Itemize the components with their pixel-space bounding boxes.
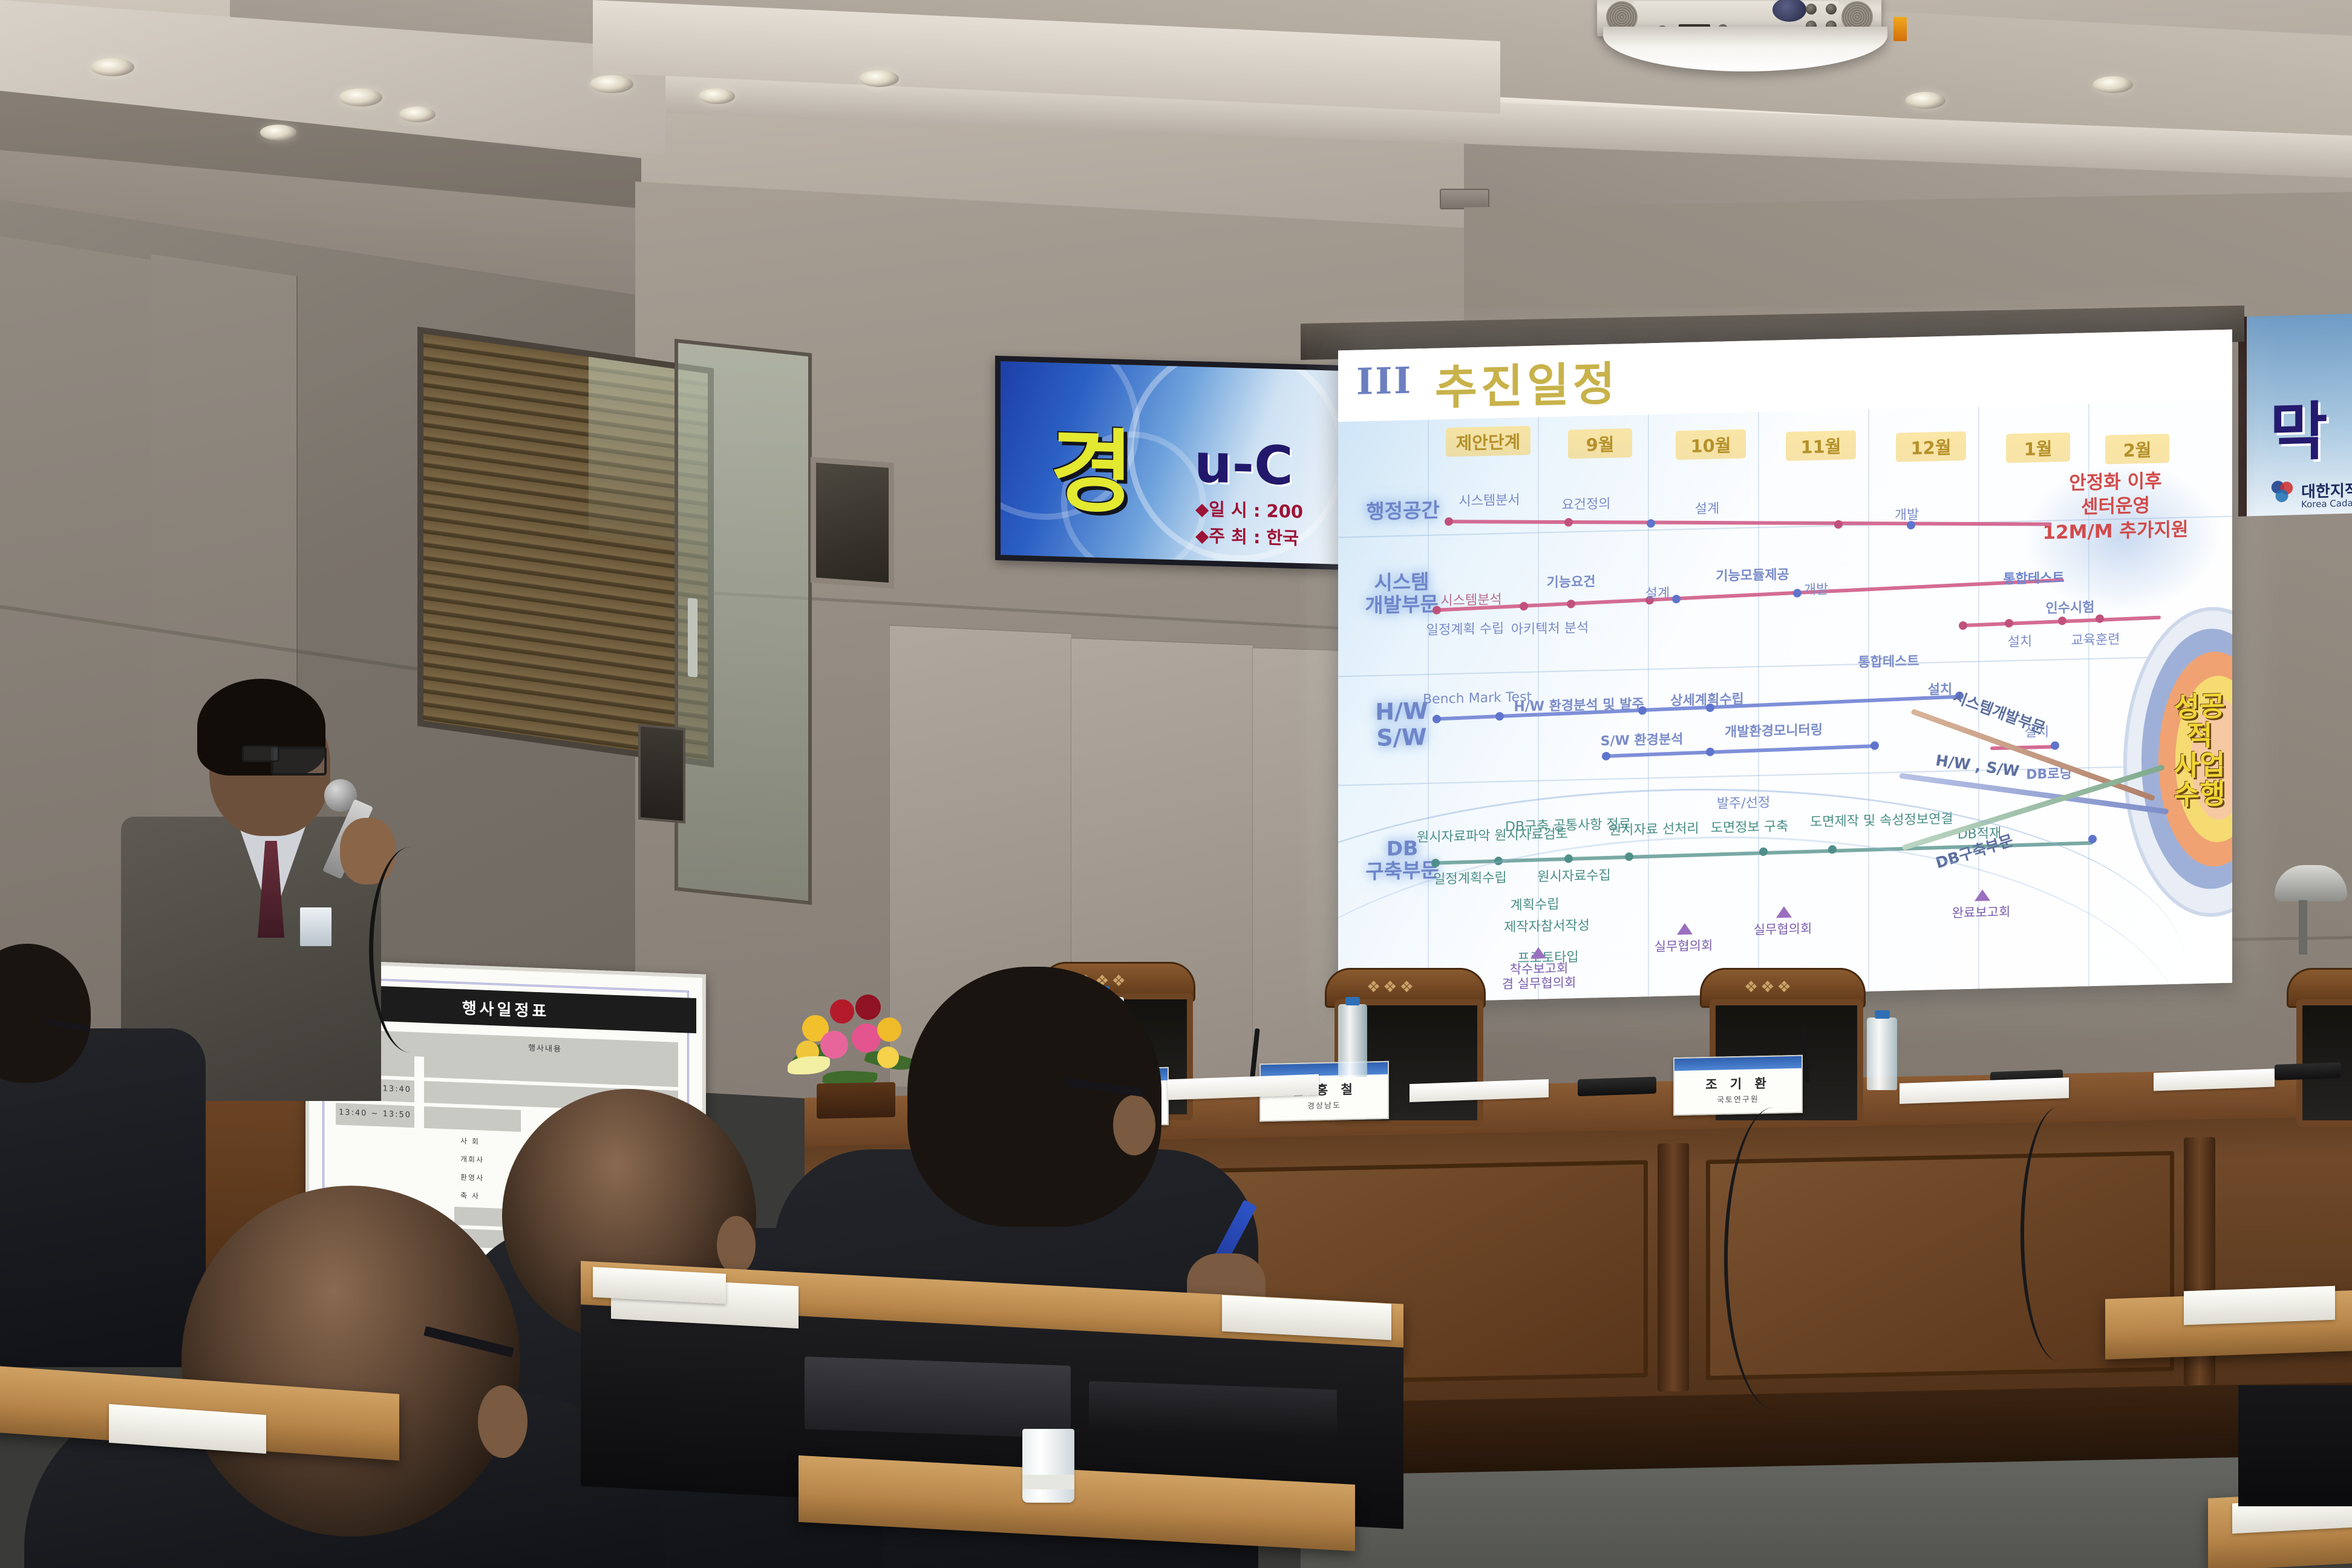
timeline-node: [1647, 519, 1655, 528]
timeline-node: [1564, 518, 1573, 526]
timeline-node: [1602, 752, 1610, 760]
event-banner-left: 경 u-C ◆일 시 : 200 ◆주 최 : 한국: [995, 356, 1345, 570]
bottle-cap-icon: [1875, 1010, 1890, 1019]
poster-side-label: 개회사: [460, 1154, 484, 1165]
laptop-lid[interactable]: [805, 1356, 1071, 1438]
lamp-arm: [2299, 900, 2307, 955]
conference-room-photo: 경 u-C ◆일 시 : 200 ◆주 최 : 한국 막 ㅆ 대한지적공사 Ko…: [0, 0, 2352, 1568]
flower-bloom: [877, 1047, 899, 1068]
task-label: 설치: [1993, 630, 2047, 651]
task-label: 개발: [1877, 503, 1937, 524]
row-label-admin-space: 행정공간: [1351, 499, 1454, 524]
nameplate-strip: [1674, 1056, 1802, 1071]
timeline-month-header: 1월: [2006, 433, 2070, 463]
timeline-node: [1870, 741, 1879, 750]
head-table-column: [1658, 1143, 1689, 1392]
power-cable: [1724, 1107, 1824, 1410]
downlight-icon: [859, 70, 899, 87]
timeline-node: [1959, 621, 1967, 630]
timeline-node: [2005, 619, 2013, 627]
flower-bloom: [820, 1031, 848, 1059]
chair-carving-decor: ❖❖❖: [1744, 978, 1794, 996]
door-handle-icon[interactable]: [688, 598, 697, 678]
chair[interactable]: [2281, 968, 2352, 1119]
poster-side-label: 축 사: [460, 1190, 480, 1201]
flower-bloom: [852, 1024, 881, 1053]
task-label: 일정계획 수립: [1423, 618, 1508, 639]
chair-carving-decor: ❖❖❖: [1367, 978, 1416, 996]
task-label: 시스템분석: [1429, 589, 1514, 610]
projection-screen: III 추진일정 제안단계 9월 10월 11월 12월: [1338, 330, 2232, 1004]
timeline-node: [1834, 520, 1843, 529]
task-label: 기능요건: [1532, 570, 1610, 592]
task-label: 상세계획수립: [1659, 688, 1756, 710]
audience-head: [907, 967, 1161, 1227]
kcs-logo-icon: [2269, 477, 2296, 506]
audience-ear: [717, 1216, 756, 1274]
target-bullseye-label: 성공적 사업 수행: [2163, 691, 2232, 809]
slide-section-number: III: [1356, 360, 1413, 403]
slide-body: 제안단계 9월 10월 11월 12월 1월 2월 안정화 이후 센터운영 12…: [1338, 401, 2232, 1004]
bottle-cap-icon: [1345, 997, 1360, 1005]
slide-note-red: 안정화 이후 센터운영 12M/M 추가지원: [2016, 468, 2215, 546]
task-label: 요건정의: [1544, 492, 1628, 514]
cup-band-decor: [1022, 1475, 1074, 1489]
presenter: [145, 665, 484, 1089]
paper-cup[interactable]: [1022, 1429, 1074, 1503]
flower-bloom: [830, 999, 854, 1024]
downlight-icon: [1906, 92, 1945, 109]
task-label: 개발환경모니터링: [1719, 719, 1828, 740]
timeline-month-header: 12월: [1896, 431, 1966, 462]
task-label: 아키텍처 분석: [1508, 617, 1592, 638]
timeline-month-header: 2월: [2105, 434, 2169, 464]
microphone-base: [1578, 1077, 1656, 1097]
nameplate-org: 국토연구원: [1674, 1092, 1802, 1106]
nameplate-org: 경상남도: [1261, 1098, 1388, 1112]
task-label: 통합테스트: [1834, 650, 1943, 671]
presenter-glasses-arm: [242, 745, 279, 762]
projector-rca-jack-icon: [1826, 4, 1837, 15]
downlight-icon: [339, 88, 382, 106]
power-cable: [2020, 1107, 2097, 1361]
task-label: 설계: [1677, 497, 1737, 518]
nameplate-strip: [1261, 1062, 1388, 1077]
timeline-node: [1520, 602, 1528, 610]
banner-host-line: ◆주 최 : 한국: [1195, 521, 1299, 550]
slide-canvas: III 추진일정 제안단계 9월 10월 11월 12월: [1338, 330, 2232, 1004]
projector-label-tag: [1893, 17, 1907, 41]
banner-subtitle: u-C: [1194, 432, 1293, 497]
task-label: S/W 환경분석: [1587, 728, 1696, 750]
downlight-icon: [91, 58, 134, 76]
task-label: Bench Mark Test: [1423, 690, 1508, 707]
microphone-base: [2275, 1062, 2341, 1080]
laptop-keyboard[interactable]: [1089, 1381, 1337, 1437]
task-label: H/W 환경분석 및 발주: [1512, 693, 1645, 715]
timeline-month-header: 10월: [1676, 430, 1746, 460]
presenter-name-badge: [300, 907, 332, 946]
event-banner-right: 막 ㅆ 대한지적공사 Korea Cadastral Survey: [2238, 312, 2352, 517]
audience-ear: [1113, 1095, 1155, 1155]
timeline-node: [1445, 517, 1453, 526]
audience-ear: [478, 1385, 528, 1458]
flower-vase: [817, 1082, 895, 1119]
downlight-icon: [260, 125, 296, 140]
poster-side-label: 사 회: [460, 1135, 480, 1146]
downlight-icon: [2093, 76, 2133, 93]
task-label: 설계: [1627, 582, 1688, 603]
wall-aperture: [811, 457, 894, 589]
task-label: 통합테스트: [1979, 566, 2088, 588]
water-bottle[interactable]: [1867, 1018, 1897, 1090]
poster-side-label: 환영사: [460, 1172, 484, 1183]
downlight-icon: [590, 75, 633, 93]
timeline-month-header: 제안단계: [1446, 426, 1530, 457]
timeline-node: [1495, 712, 1504, 720]
nameplate-name: 조 기 환: [1674, 1073, 1802, 1093]
flower-bloom: [855, 995, 881, 1020]
timeline-node: [1567, 599, 1575, 608]
timeline-node: [1706, 748, 1714, 756]
projector-rca-jack-icon: [1806, 4, 1817, 15]
audience-head-balding: [181, 1186, 520, 1537]
timeline-month-header: 11월: [1786, 430, 1856, 461]
downlight-icon: [699, 88, 735, 104]
microphone-cord: [369, 847, 452, 1053]
glass-door[interactable]: [675, 339, 812, 905]
banner-right-headline: 막 ㅆ: [2270, 377, 2352, 472]
timeline-month-header: 9월: [1568, 428, 1632, 459]
poster-cell: [424, 1106, 521, 1132]
nameplate: 조 기 환 국토연구원: [1673, 1055, 1803, 1116]
task-label: 시스템분서: [1447, 489, 1532, 510]
notebook[interactable]: [2184, 1286, 2335, 1325]
monitor-stand: [2238, 1385, 2352, 1506]
downlight-icon: [399, 106, 436, 122]
ceiling-vent-icon: [1440, 189, 1489, 209]
arrow-label-hwsw: H/W , S/W: [1935, 751, 2020, 780]
flower-bloom: [877, 1018, 901, 1042]
banner-date-line: ◆일 시 : 200: [1195, 495, 1303, 523]
wall-speaker-icon: [638, 724, 685, 824]
task-label: 개발: [1786, 578, 1846, 599]
water-bottle[interactable]: [1338, 1004, 1367, 1077]
banner-headline: 경: [1050, 397, 1134, 531]
slide-title: 추진일정: [1435, 346, 1619, 417]
